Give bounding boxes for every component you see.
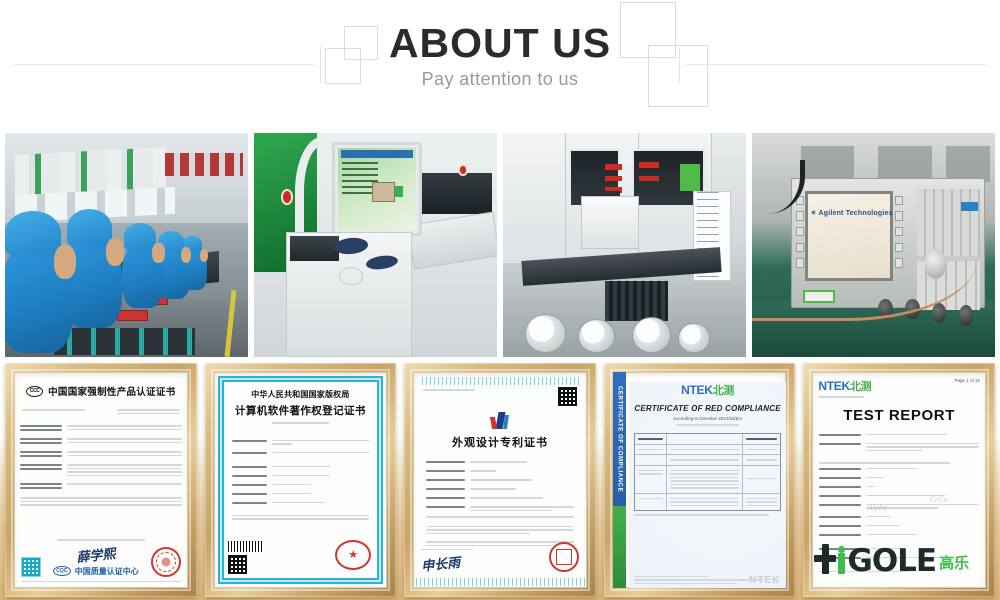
about-us-page: ABOUT US Pay attention to us xyxy=(0,0,1000,600)
certificate-frame-ccc[interactable]: CCC 中国国家强制性产品认证证书 xyxy=(5,363,197,597)
test-report-header: NTEK北测 Page 1 of 32 xyxy=(812,372,986,400)
ccc-footer: 薛学熙 CQC 中国质量认证中心 xyxy=(14,539,188,584)
cnipa-logo xyxy=(419,412,581,429)
green-status-tag xyxy=(680,164,699,191)
compliance-sidebar-green xyxy=(613,506,626,588)
table-note xyxy=(634,514,770,516)
component-reel-4 xyxy=(678,323,710,352)
machine-monitor xyxy=(332,142,422,236)
smt-machine-1 xyxy=(503,133,566,263)
ccc-meta xyxy=(22,407,180,416)
higole-chinese-name: 高乐 xyxy=(939,552,969,574)
ccc-field-3 xyxy=(20,449,182,459)
wall-panel-3 xyxy=(946,146,990,182)
ccc-field-1 xyxy=(20,423,182,433)
copyright-title-line2: 计算机软件著作权登记证书 xyxy=(230,403,372,418)
wall-panel-2 xyxy=(878,146,931,182)
photo-aoi-inspection-machine xyxy=(254,133,497,357)
certificate-frame-software-copyright[interactable]: 中华人民共和国国家版权局 计算机软件著作权登记证书 xyxy=(205,363,397,597)
patent-number-line xyxy=(423,389,475,391)
field-intro xyxy=(819,462,950,464)
facility-photo-strip: ✶ Agilent Technologies xyxy=(5,133,995,357)
red-seal-icon xyxy=(151,547,181,577)
ccc-body-text xyxy=(20,497,182,506)
field-address xyxy=(819,441,979,454)
higole-h-icon xyxy=(814,544,836,574)
compliance-body: NTEK北测 CERTIFICATE OF RED COMPLIANCE Acc… xyxy=(629,382,787,588)
table-row xyxy=(635,466,781,494)
certificate-frame-red-compliance[interactable]: CERTIFICATE OF COMPLIANCE NTEK北测 CERTIFI… xyxy=(604,363,796,597)
compliance-sidebar: CERTIFICATE OF COMPLIANCE xyxy=(613,372,626,588)
field-testing-period xyxy=(819,532,979,538)
field-sample-name xyxy=(819,466,979,472)
ntek-logo: NTEK北测 xyxy=(818,378,871,394)
watermark-script-2: CeCa xyxy=(930,495,948,504)
cnipa-emblem-icon xyxy=(489,412,511,429)
table-row xyxy=(635,494,781,511)
qr-code-icon xyxy=(558,387,577,406)
photo-smt-pick-and-place xyxy=(503,133,746,357)
red-compliance-subtitle: According to Directive 2014/53/EU xyxy=(629,416,787,421)
copyright-codes xyxy=(228,541,262,574)
red-seal-icon xyxy=(549,542,579,572)
field-mfr-address xyxy=(819,502,979,511)
component-bins xyxy=(54,328,195,355)
barcode-icon xyxy=(228,541,262,552)
copyright-seal: ★ xyxy=(335,540,371,570)
warning-label-2 xyxy=(605,176,622,182)
ntek-logo-text: NTEK xyxy=(818,379,849,393)
test-report-page-label: Page 1 of 32 xyxy=(954,378,980,383)
machine-interior-dark xyxy=(419,173,492,213)
ntek-logo: NTEK北测 xyxy=(629,382,787,398)
photo-assembly-line xyxy=(5,133,248,357)
compliance-sidebar-text: CERTIFICATE OF COMPLIANCE xyxy=(613,372,626,506)
field-trademark xyxy=(819,484,979,490)
component-feeder-bank xyxy=(605,281,668,321)
component-reel-1 xyxy=(525,314,566,352)
photo-rf-test-equipment: ✶ Agilent Technologies xyxy=(752,133,995,357)
test-report-title: TEST REPORT xyxy=(812,407,986,424)
red-tray-1 xyxy=(117,310,149,321)
ccc-header: CCC 中国国家强制性产品认证证书 xyxy=(20,384,182,398)
patent-signature-block: 申长雨 xyxy=(421,542,579,572)
warning-label-1 xyxy=(605,164,622,170)
soft-key-6 xyxy=(895,196,903,205)
certificate-frame-test-report[interactable]: NTEK北测 Page 1 of 32 TEST REPORT xyxy=(803,363,995,597)
cqc-issuer-name: 中国质量认证中心 xyxy=(75,566,139,577)
qr-code-icon xyxy=(21,557,41,577)
ntek-logo-text: NTEK xyxy=(681,383,712,397)
table-row xyxy=(635,455,781,466)
patent-signature: 申长雨 xyxy=(420,550,474,574)
page-title: ABOUT US xyxy=(0,21,1000,65)
table-row xyxy=(635,445,781,456)
machine-drawer xyxy=(290,236,339,261)
ccc-field-2 xyxy=(20,436,182,446)
field-manufacturer xyxy=(819,493,979,499)
monitor-screen xyxy=(338,148,416,230)
certificate-shelf: CCC 中国国家强制性产品认证证书 xyxy=(0,357,1000,600)
component-reel-3 xyxy=(632,317,671,353)
certificate-frame-design-patent[interactable]: 外观设计专利证书 xyxy=(404,363,596,597)
rf-connector-4 xyxy=(959,305,974,325)
agilent-brand-label: ✶ Agilent Technologies xyxy=(810,209,893,217)
placement-head xyxy=(581,196,639,250)
ccc-field-4 xyxy=(20,462,182,478)
worker-3 xyxy=(122,241,163,308)
higole-logo: GOLE 高乐 xyxy=(814,544,986,574)
red-star-seal-icon: ★ xyxy=(335,540,371,570)
page-subtitle: Pay attention to us xyxy=(0,69,1000,90)
roller-door xyxy=(165,153,243,175)
agilent-star-icon: ✶ xyxy=(811,210,817,217)
warning-label-5 xyxy=(639,176,658,182)
warning-label-4 xyxy=(639,162,658,168)
emergency-stop-button-2 xyxy=(458,164,468,175)
higole-wordmark: GOLE xyxy=(847,548,936,574)
field-number-of-samples xyxy=(819,514,979,520)
ntek-logo-cn: 北测 xyxy=(713,385,734,397)
field-model-no xyxy=(819,475,979,481)
patent-title: 外观设计专利证书 xyxy=(419,434,581,450)
mouse xyxy=(339,267,363,285)
ccc-title: 中国国家强制性产品认证证书 xyxy=(48,384,175,398)
standards-table xyxy=(634,433,782,512)
agilent-brand-text: Agilent Technologies xyxy=(818,210,892,217)
component-reel-2 xyxy=(578,319,614,353)
field-applicant xyxy=(819,432,979,438)
software-copyright-content: 中华人民共和国国家版权局 计算机软件著作权登记证书 xyxy=(220,377,382,438)
header-wave-ornament xyxy=(419,377,581,385)
copyright-title-line1: 中华人民共和国国家版权局 xyxy=(230,389,372,400)
worker-1 xyxy=(5,241,73,353)
certificate-red-compliance: CERTIFICATE OF COMPLIANCE NTEK北测 CERTIFI… xyxy=(613,372,787,588)
qr-code-icon xyxy=(228,555,247,574)
certificate-software-copyright: 中华人民共和国国家版权局 计算机软件著作权登记证书 xyxy=(214,372,388,588)
emergency-stop-button-1 xyxy=(281,189,293,205)
footer-wave-ornament xyxy=(413,578,587,586)
watermark-script-1: Alpha xyxy=(868,503,887,512)
ccc-badge-icon: CCC xyxy=(26,386,43,397)
header-titles: ABOUT US Pay attention to us xyxy=(0,0,1000,90)
page-header: ABOUT US Pay attention to us xyxy=(0,0,1000,120)
compliance-footer: Page 1 of 1 xyxy=(634,574,782,589)
higole-i-icon xyxy=(837,544,846,574)
field-sample-received xyxy=(819,523,979,529)
certificate-design-patent: 外观设计专利证书 xyxy=(413,372,587,588)
table-header-row xyxy=(635,434,781,445)
blue-key xyxy=(961,202,978,211)
certificate-test-report: NTEK北测 Page 1 of 32 TEST REPORT xyxy=(812,372,986,588)
certificate-ccc: CCC 中国国家强制性产品认证证书 xyxy=(14,372,188,588)
ntek-logo-cn: 北测 xyxy=(850,381,871,393)
red-compliance-title: CERTIFICATE OF RED COMPLIANCE xyxy=(629,404,787,413)
wall-panel-1 xyxy=(801,146,854,182)
certificate-row: CCC 中国国家强制性产品认证证书 xyxy=(5,363,995,597)
ccc-field-5 xyxy=(20,481,182,491)
